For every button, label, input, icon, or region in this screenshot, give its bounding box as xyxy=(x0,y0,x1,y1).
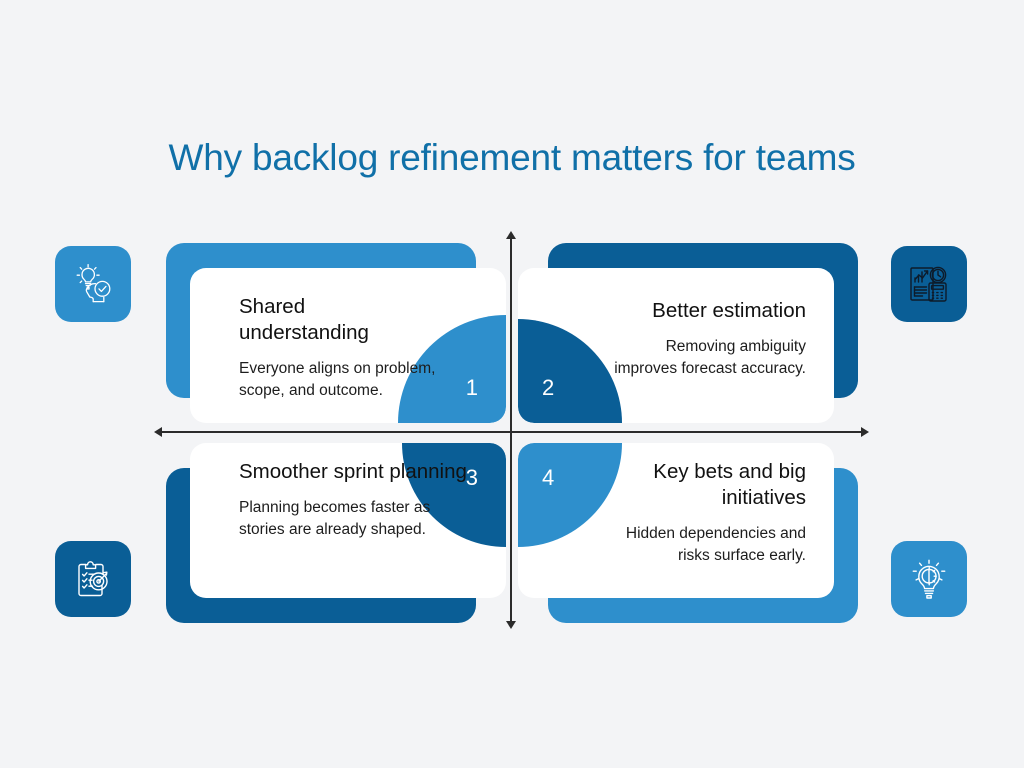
quadrant-4-body: Hidden dependencies and risks surface ea… xyxy=(606,523,806,566)
lightbulb-gear-icon xyxy=(905,555,953,603)
quadrant-2-card-surface[interactable]: 2 Better estimation Removing ambiguity i… xyxy=(518,268,834,423)
quadrant-4-number: 4 xyxy=(542,465,554,491)
quadrant-2-number: 2 xyxy=(542,375,554,401)
quadrant-3-body: Planning becomes faster as stories are a… xyxy=(239,497,475,540)
quadrant-3-number: 3 xyxy=(466,465,478,491)
axis-arrow-left-icon xyxy=(154,427,162,437)
axis-arrow-down-icon xyxy=(506,621,516,629)
quadrant-card-2[interactable]: 2 Better estimation Removing ambiguity i… xyxy=(518,243,858,423)
icon-tile-sprint-planning xyxy=(55,541,131,617)
quadrant-1-content: Shared understanding Everyone aligns on … xyxy=(239,294,439,402)
quadrant-2-body: Removing ambiguity improves forecast acc… xyxy=(601,336,806,379)
quadrant-card-3[interactable]: 3 Smoother sprint planning Planning beco… xyxy=(166,443,506,623)
quadrant-4-card-surface[interactable]: 4 Key bets and big initiatives Hidden de… xyxy=(518,443,834,598)
quadrant-1-card-surface[interactable]: 1 Shared understanding Everyone aligns o… xyxy=(190,268,506,423)
axis-arrow-up-icon xyxy=(506,231,516,239)
quadrant-4-heading: Key bets and big initiatives xyxy=(606,459,806,511)
quadrant-2-heading: Better estimation xyxy=(601,298,806,324)
quadrant-1-body: Everyone aligns on problem, scope, and o… xyxy=(239,358,439,401)
quadrant-card-1[interactable]: 1 Shared understanding Everyone aligns o… xyxy=(166,243,506,423)
quadrant-card-4[interactable]: 4 Key bets and big initiatives Hidden de… xyxy=(518,443,858,623)
quadrant-1-heading: Shared understanding xyxy=(239,294,439,346)
icon-tile-better-estimation xyxy=(891,246,967,322)
chart-clock-calculator-icon xyxy=(905,260,953,308)
icon-tile-shared-understanding xyxy=(55,246,131,322)
axis-arrow-right-icon xyxy=(861,427,869,437)
lightbulb-head-check-icon xyxy=(69,260,117,308)
quadrant-3-heading: Smoother sprint planning xyxy=(239,459,475,485)
quadrant-3-card-surface[interactable]: 3 Smoother sprint planning Planning beco… xyxy=(190,443,506,598)
quadrant-matrix: 1 Shared understanding Everyone aligns o… xyxy=(0,0,1024,768)
horizontal-axis-line xyxy=(160,431,863,433)
quadrant-1-number: 1 xyxy=(466,375,478,401)
icon-tile-key-bets xyxy=(891,541,967,617)
quadrant-2-content: Better estimation Removing ambiguity imp… xyxy=(601,298,806,380)
quadrant-4-content: Key bets and big initiatives Hidden depe… xyxy=(606,459,806,567)
quadrant-3-content: Smoother sprint planning Planning become… xyxy=(239,459,475,541)
clipboard-target-icon xyxy=(69,555,117,603)
